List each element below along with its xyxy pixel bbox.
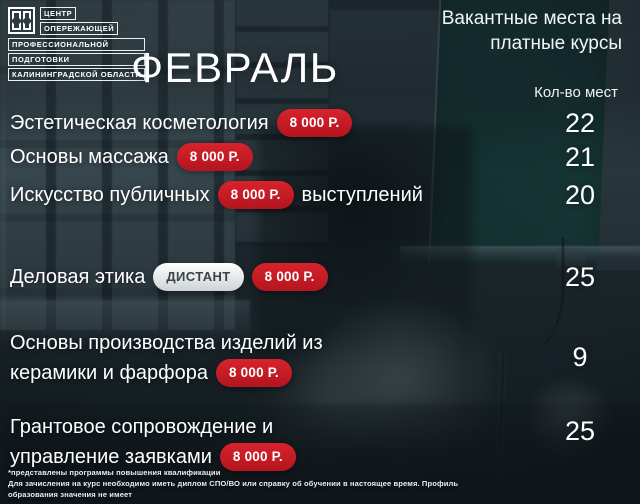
course-line: Основы массажа 8 000 Р.	[10, 142, 253, 172]
seats-count: 21	[560, 142, 600, 172]
footnote-line-2: Для зачисления на курс необходимо иметь …	[8, 478, 528, 489]
slide-content: ЦЕНТР ОПЕРЕЖАЮЩЕЙ ПРОФЕССИОНАЛЬНОЙ ПОДГО…	[0, 0, 640, 504]
format-badge-distant[interactable]: ДИСТАНТ	[153, 263, 243, 291]
slide: ЦЕНТР ОПЕРЕЖАЮЩЕЙ ПРОФЕССИОНАЛЬНОЙ ПОДГО…	[0, 0, 640, 504]
course-row-body: Основы производства изделий из керамики …	[10, 328, 640, 388]
page-title: ФЕВРАЛЬ	[0, 44, 640, 92]
course-line: Грантовое сопровождение и	[10, 412, 273, 442]
logo-mark-icon	[8, 7, 35, 34]
price-badge[interactable]: 8 000 Р.	[218, 181, 294, 210]
course-name: Основы массажа	[10, 142, 169, 172]
course-line: Основы производства изделий из	[10, 328, 323, 358]
logo-mark-quad-4	[23, 22, 32, 31]
table-row: Основы производства изделий из керамики …	[0, 320, 640, 404]
course-name: Эстетическая косметология	[10, 108, 269, 138]
table-row: Основы массажа 8 000 Р. 21	[0, 142, 640, 180]
course-row-body: Искусство публичных 8 000 Р. выступлений	[10, 180, 640, 210]
seats-count: 22	[560, 108, 600, 138]
table-row: Искусство публичных 8 000 Р. выступлений…	[0, 180, 640, 248]
course-name-continued: выступлений	[302, 180, 423, 210]
course-line-continued: выступлений	[302, 180, 423, 210]
seats-count: 9	[560, 342, 600, 372]
logo-mark-quad-1	[12, 11, 21, 20]
footnote-line-1: *представлены программы повышения квалиф…	[8, 467, 528, 478]
course-row-body: Эстетическая косметология 8 000 Р.	[10, 108, 640, 138]
brand-logo: ЦЕНТР ОПЕРЕЖАЮЩЕЙ	[8, 7, 118, 35]
course-name: Деловая этика	[10, 262, 145, 292]
course-row-body: Основы массажа 8 000 Р.	[10, 142, 640, 172]
seats-count: 20	[560, 180, 600, 210]
logo-mark-quad-2	[23, 11, 32, 20]
course-name: Основы производства изделий из	[10, 328, 323, 358]
course-name-continued: керамики и фарфора	[10, 358, 208, 388]
course-list: Эстетическая косметология 8 000 Р. 22 Ос…	[0, 108, 640, 484]
price-badge[interactable]: 8 000 Р.	[216, 359, 292, 388]
footnote: *представлены программы повышения квалиф…	[8, 467, 528, 500]
brand-line-1: ЦЕНТР	[40, 7, 76, 20]
price-badge[interactable]: 8 000 Р.	[252, 263, 328, 292]
course-name: Искусство публичных	[10, 180, 210, 210]
footnote-line-3: образования значения не имеет	[8, 489, 528, 500]
course-line: Искусство публичных 8 000 Р.	[10, 180, 294, 210]
table-row: Эстетическая косметология 8 000 Р. 22	[0, 108, 640, 142]
table-row: Деловая этика ДИСТАНТ 8 000 Р. 25	[0, 248, 640, 320]
course-line: Деловая этика ДИСТАНТ 8 000 Р.	[10, 262, 328, 292]
header-title-line-1: Вакантные места на	[292, 6, 622, 31]
course-row-body: Деловая этика ДИСТАНТ 8 000 Р.	[10, 262, 640, 292]
seats-count: 25	[560, 262, 600, 292]
price-badge[interactable]: 8 000 Р.	[277, 109, 353, 138]
brand-name-top: ЦЕНТР ОПЕРЕЖАЮЩЕЙ	[40, 7, 118, 35]
course-line: Эстетическая косметология 8 000 Р.	[10, 108, 352, 138]
seats-count: 25	[560, 416, 600, 446]
brand-line-2: ОПЕРЕЖАЮЩЕЙ	[40, 22, 118, 35]
course-row-body: Грантовое сопровождение и управление зая…	[10, 412, 640, 472]
logo-mark-quad-3	[12, 22, 21, 31]
course-name: Грантовое сопровождение и	[10, 412, 273, 442]
course-line-continued: керамики и фарфора 8 000 Р.	[10, 358, 292, 388]
price-badge[interactable]: 8 000 Р.	[177, 143, 253, 172]
